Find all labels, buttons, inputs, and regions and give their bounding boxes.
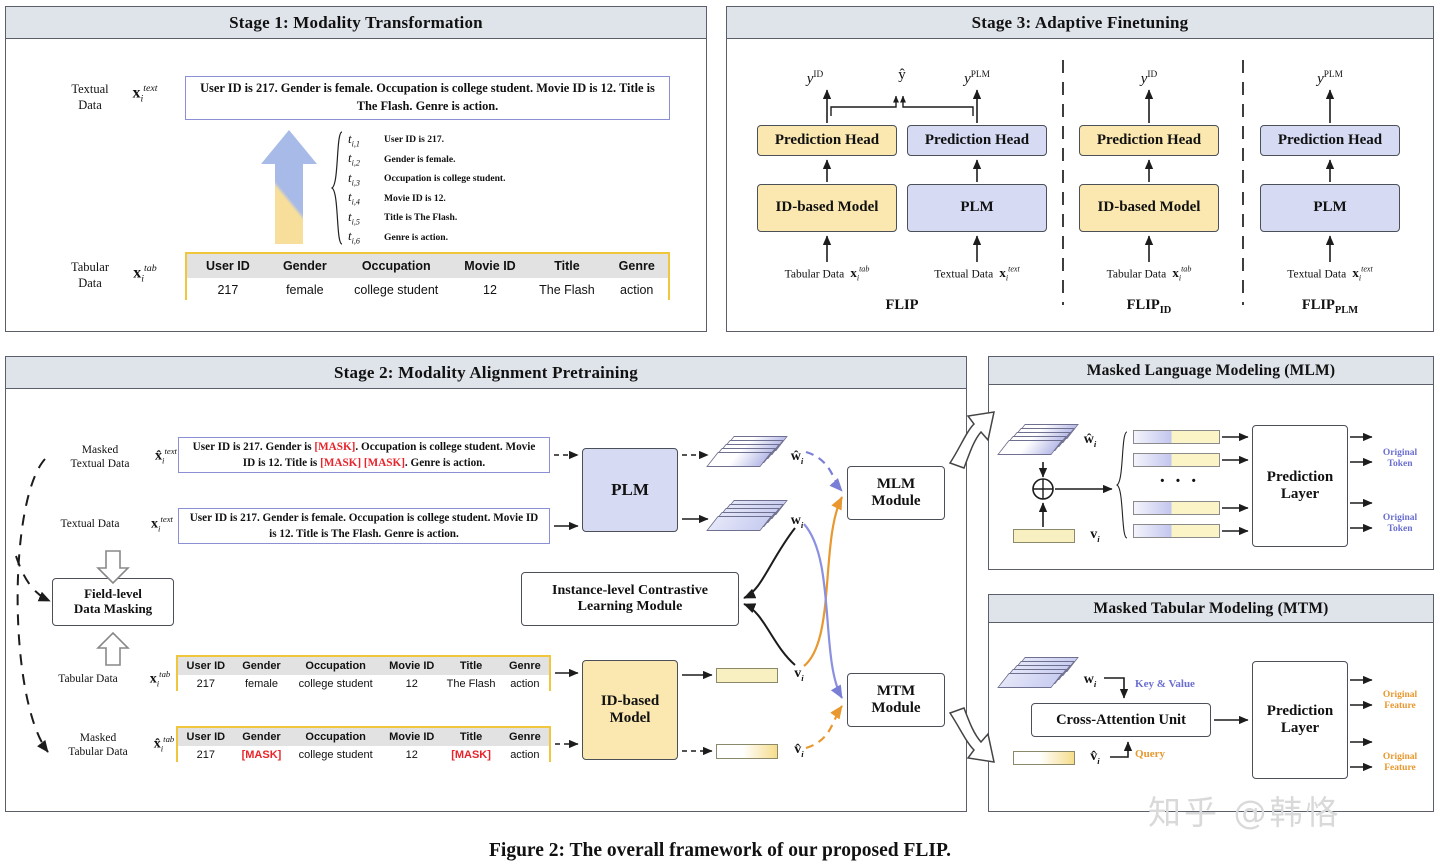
mtm-query-label: Query	[1120, 748, 1180, 761]
mtm-input-stack	[1003, 657, 1083, 689]
mask-token: [MASK] [MASK]	[320, 457, 405, 469]
stage2-tabular-symbol: xitab	[140, 669, 180, 689]
stage3-flipid-model: ID-based Model	[1079, 184, 1219, 232]
stage1-brace	[330, 130, 344, 251]
field-sentence-row: ti,5 Title is The Flash.	[348, 208, 598, 228]
stage3-variant-name-flipplm: FLIPPLM	[1260, 297, 1400, 316]
table-header-row: User ID Gender Occupation Movie ID Title…	[178, 657, 549, 675]
mlm-concat-row	[1133, 501, 1220, 515]
stage2-masked-textual-label: Masked Textual Data	[52, 443, 148, 472]
stage2-plm-block: PLM	[582, 448, 678, 532]
stage2-masked-tabular-table: User ID Gender Occupation Movie ID Title…	[176, 726, 551, 762]
stage2-title: Stage 2: Modality Alignment Pretraining	[6, 357, 966, 389]
mtm-output-feature-2: Original Feature	[1372, 752, 1428, 774]
embedding-bar-masked-tab	[716, 744, 778, 759]
mtm-input-label-text: wi	[1073, 671, 1107, 690]
stage2-textual-label: Textual Data	[40, 517, 140, 531]
field-sentence-row: ti,3 Occupation is college student.	[348, 169, 598, 189]
stage3-flip-input-text: Textual Data xitext	[907, 265, 1047, 284]
masked-text-part-3: . Genre is action.	[405, 457, 485, 469]
mtm-cross-attention-unit: Cross-Attention Unit	[1031, 703, 1211, 737]
stage1-textual-sentence: User ID is 217. Gender is female. Occupa…	[194, 80, 661, 116]
watermark: 知乎 @韩恪	[1148, 786, 1342, 834]
stage2-masked-tabular-label: Masked Tabular Data	[50, 731, 146, 760]
masked-text-part-1: User ID is 217. Gender is	[193, 441, 315, 453]
stage2-field-masking-block: Field-level Data Masking	[52, 578, 174, 626]
stage2-masked-textual-box: User ID is 217. Gender is [MASK]. Occupa…	[178, 437, 550, 473]
stage3-flip-output-fused: ŷ	[880, 66, 924, 85]
mlm-input-stack	[1003, 424, 1083, 456]
stage2-tabular-table: User ID Gender Occupation Movie ID Title…	[176, 655, 551, 691]
stage3-flip-input-tab: Tabular Data xitab	[757, 265, 897, 284]
field-sentence-row: ti,1 User ID is 217.	[348, 130, 598, 150]
embedding-bar-tab	[716, 668, 778, 683]
stage3-flip-prediction-head-id: Prediction Head	[757, 125, 897, 156]
table-row: 217 [MASK] college student 12 [MASK] act…	[178, 746, 549, 764]
mlm-title: Masked Language Modeling (MLM)	[989, 357, 1433, 385]
mlm-ellipsis: · · ·	[1159, 470, 1199, 493]
mtm-input-bar-masked-tab	[1013, 751, 1075, 765]
stage1-table: User ID Gender Occupation Movie ID Title…	[185, 252, 670, 300]
stage2-contrastive-module: Instance-level Contrastive Learning Modu…	[521, 572, 739, 626]
mask-cell: [MASK]	[441, 746, 500, 764]
stage2-embedding-label-tab: vi	[782, 665, 816, 684]
stage1-textual-label: Textual Data	[55, 82, 125, 113]
stage3-flipplm-output: yPLM	[1303, 70, 1357, 89]
mtm-output-feature-1: Original Feature	[1372, 690, 1428, 712]
field-sentence-row: ti,4 Movie ID is 12.	[348, 189, 598, 209]
stage3-flip-prediction-head-plm: Prediction Head	[907, 125, 1047, 156]
stage2-embedding-label-text: wi	[780, 512, 814, 531]
table-row: 217 female college student 12 The Flash …	[187, 278, 668, 302]
figure-caption: Figure 2: The overall framework of our p…	[0, 840, 1440, 862]
mlm-concat-brace	[1116, 430, 1129, 545]
stage3-flipid-input: Tabular Data xitab	[1079, 265, 1219, 284]
stage3-flipplm-input: Textual Data xitext	[1260, 265, 1400, 284]
mask-token: [MASK]	[314, 441, 355, 453]
stage3-flipid-prediction-head: Prediction Head	[1079, 125, 1219, 156]
stage2-textual-box: User ID is 217. Gender is female. Occupa…	[178, 508, 550, 544]
stage3-flipplm-model: PLM	[1260, 184, 1400, 232]
stage2-textual-symbol: xitext	[142, 514, 182, 534]
stage3-variant-name-flip: FLIP	[757, 297, 1047, 314]
stage3-variant-name-flipid: FLIPID	[1079, 297, 1219, 316]
stage3-flip-output-id: yID	[790, 70, 840, 89]
mlm-concat-row	[1133, 430, 1220, 444]
mlm-concat-row	[1133, 453, 1220, 467]
stage3-flipid-output: yID	[1124, 70, 1174, 89]
mtm-key-value-label: Key & Value	[1117, 678, 1213, 691]
stage3-flip-output-plm: yPLM	[950, 70, 1004, 89]
mlm-prediction-layer: Prediction Layer	[1252, 425, 1348, 547]
stage1-title: Stage 1: Modality Transformation	[6, 7, 706, 39]
stage2-mlm-module: MLM Module	[847, 466, 945, 520]
table-header-row: User ID Gender Occupation Movie ID Title…	[178, 728, 549, 746]
mlm-concat-row	[1133, 524, 1220, 538]
stage3-flip-id-model: ID-based Model	[757, 184, 897, 232]
stage1-tabular-symbol: xitab	[122, 263, 168, 286]
stage2-embedding-label-masked-text: ŵi	[780, 448, 814, 467]
field-sentence-row: ti,2 Gender is female.	[348, 150, 598, 170]
stage1-textual-symbol: xitext	[122, 83, 168, 106]
mask-cell: [MASK]	[234, 746, 290, 764]
mlm-input-label-masked-text: ŵi	[1073, 431, 1107, 450]
stage1-transform-arrow	[258, 128, 320, 246]
stage3-flip-plm: PLM	[907, 184, 1047, 232]
stage2-tabular-label: Tabular Data	[38, 672, 138, 686]
table-row: 217 female college student 12 The Flash …	[178, 675, 549, 693]
mlm-output-token-2: Original Token	[1372, 513, 1428, 535]
stage2-mtm-module: MTM Module	[847, 673, 945, 727]
stage1-textual-box: User ID is 217. Gender is female. Occupa…	[185, 76, 670, 120]
mlm-input-label-tab: vi	[1078, 526, 1112, 545]
stage1-field-sentences: ti,1 User ID is 217. ti,2 Gender is fema…	[348, 130, 598, 247]
stage2-embedding-label-masked-tab: v̂i	[782, 741, 816, 760]
mtm-input-label-masked-tab: v̂i	[1078, 748, 1112, 767]
mlm-output-token-1: Original Token	[1372, 448, 1428, 470]
stage3-flipplm-prediction-head: Prediction Head	[1260, 125, 1400, 156]
mlm-input-bar-tab	[1013, 529, 1075, 543]
stage2-textual-sentence: User ID is 217. Gender is female. Occupa…	[187, 510, 541, 542]
mtm-prediction-layer: Prediction Layer	[1252, 661, 1348, 779]
stage3-title: Stage 3: Adaptive Finetuning	[727, 7, 1433, 39]
field-sentence-row: ti,6 Genre is action.	[348, 228, 598, 248]
mtm-title: Masked Tabular Modeling (MTM)	[989, 595, 1433, 623]
stage2-id-model-block: ID-based Model	[582, 660, 678, 760]
stage1-tabular-label: Tabular Data	[55, 260, 125, 291]
table-header-row: User ID Gender Occupation Movie ID Title…	[187, 254, 668, 278]
